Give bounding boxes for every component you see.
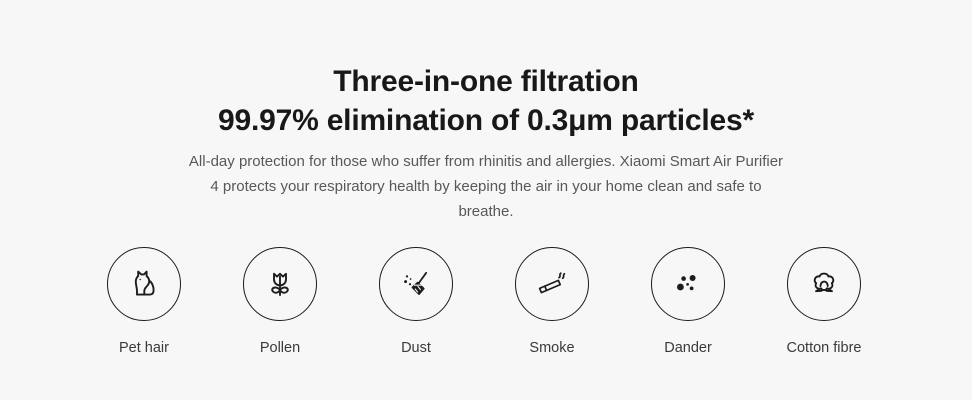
filtration-icon-row: Pet hair xyxy=(80,247,888,357)
icon-circle-pet-hair xyxy=(107,247,181,321)
icon-label-dander: Dander xyxy=(664,339,712,357)
icon-circle-smoke xyxy=(515,247,589,321)
feature-item-dust: Dust xyxy=(352,247,480,357)
feature-item-pollen: Pollen xyxy=(216,247,344,357)
feature-section: Three-in-one filtration 99.97% eliminati… xyxy=(0,0,972,400)
feature-item-smoke: Smoke xyxy=(488,247,616,357)
icon-circle-pollen xyxy=(243,247,317,321)
icon-label-pet-hair: Pet hair xyxy=(119,339,169,357)
tulip-flower-icon xyxy=(259,263,301,305)
page-title: Three-in-one filtration 99.97% eliminati… xyxy=(0,62,972,140)
icon-label-cotton-fibre: Cotton fibre xyxy=(787,339,862,357)
feature-item-pet-hair: Pet hair xyxy=(80,247,208,357)
feature-item-cotton-fibre: Cotton fibre xyxy=(760,247,888,357)
headline-line-1: Three-in-one filtration xyxy=(0,62,972,101)
icon-label-dust: Dust xyxy=(401,339,431,357)
icon-circle-dust xyxy=(379,247,453,321)
icon-label-smoke: Smoke xyxy=(529,339,574,357)
icon-circle-cotton-fibre xyxy=(787,247,861,321)
description-text: All-day protection for those who suffer … xyxy=(186,149,786,224)
icon-circle-dander xyxy=(651,247,725,321)
headline-line-2: 99.97% elimination of 0.3μm particles* xyxy=(0,101,972,140)
cigarette-smoke-icon xyxy=(531,263,573,305)
cat-icon xyxy=(123,263,165,305)
feature-item-dander: Dander xyxy=(624,247,752,357)
icon-label-pollen: Pollen xyxy=(260,339,300,357)
particles-dots-icon xyxy=(667,263,709,305)
cotton-boll-icon xyxy=(803,263,845,305)
broom-icon xyxy=(395,263,437,305)
